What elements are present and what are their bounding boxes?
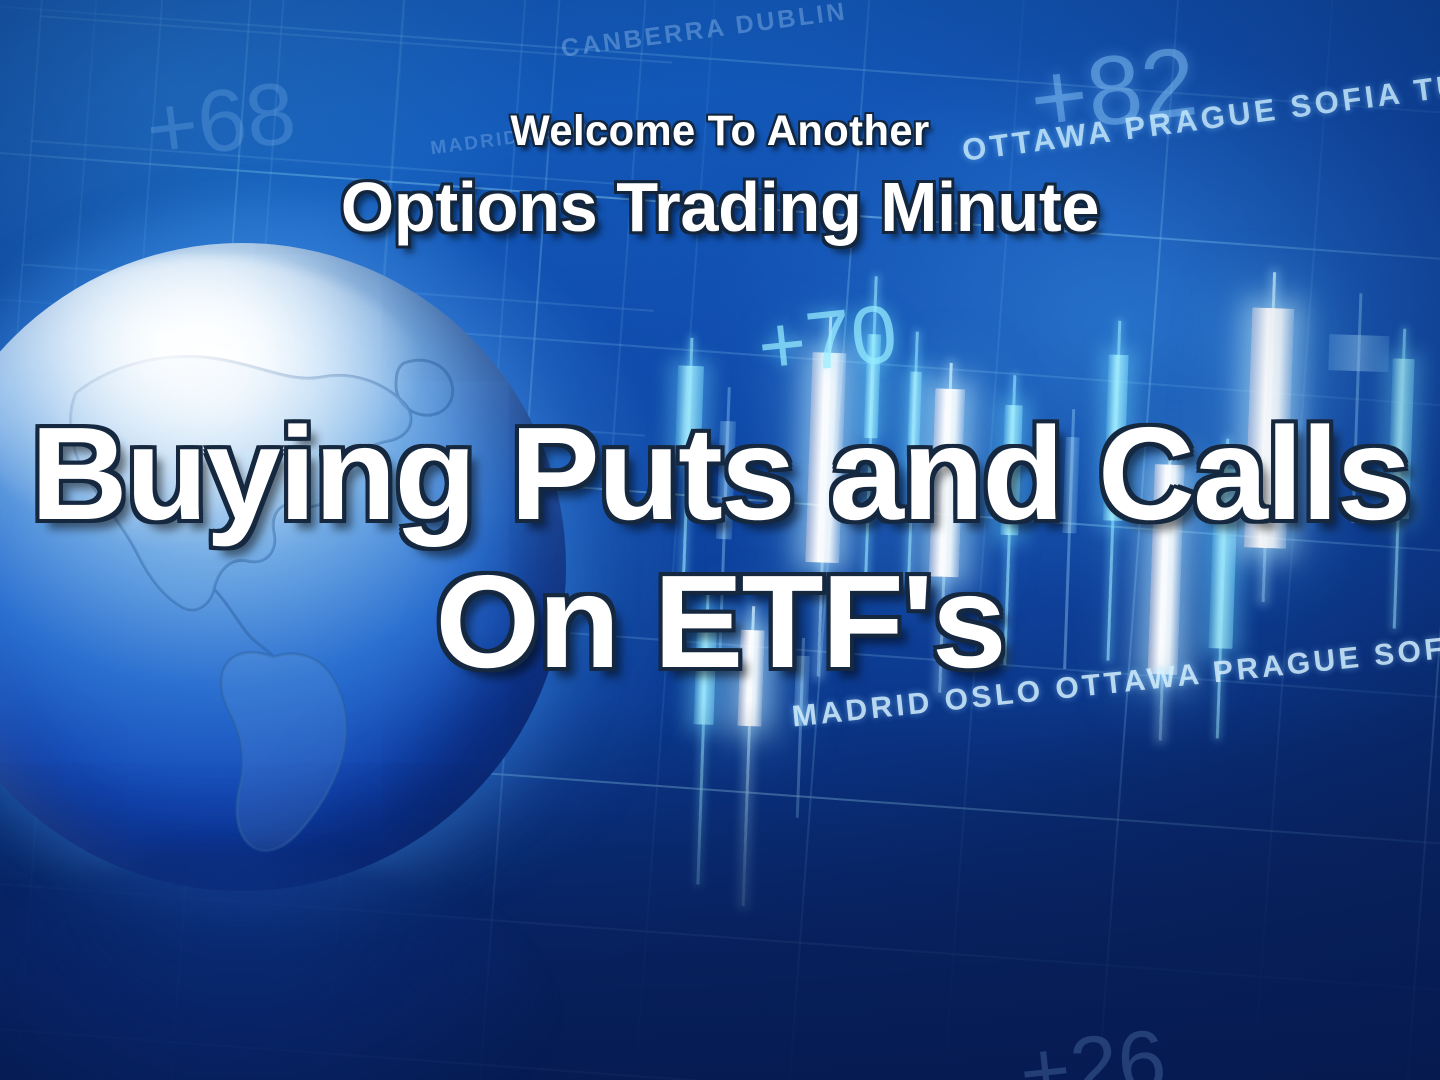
headline-line-2: On ETF's (0, 556, 1440, 688)
video-frame: +68 +82 +70 +26 CANBERRA DUBLIN MADRID O… (0, 0, 1440, 1080)
show-title: Options Trading Minute (14, 172, 1425, 242)
headline-line-1: Buying Puts and Calls (0, 408, 1440, 540)
welcome-line: Welcome To Another (22, 110, 1419, 153)
